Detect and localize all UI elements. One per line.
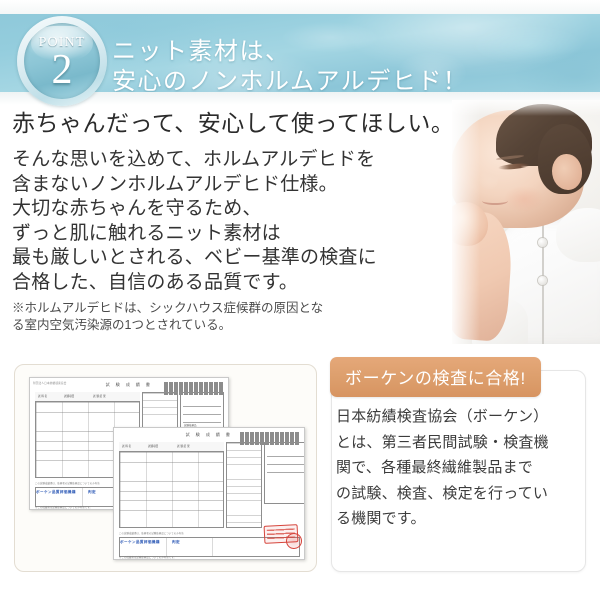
baby-cheek bbox=[504, 186, 544, 212]
certificate-blue-judgement: 判定 bbox=[88, 490, 96, 495]
description-line: 関で、各種最終繊維製品まで bbox=[336, 455, 586, 481]
header-title-line-2: 安心のノンホルムアルデヒド！ bbox=[112, 67, 468, 92]
certificate-blue-judgement: 判定 bbox=[172, 540, 180, 545]
table-header-cell: 試 験 結 果 bbox=[93, 394, 106, 398]
footnote-line: ※ホルムアルデヒドは、シックハウス症候群の原因とな bbox=[12, 300, 323, 317]
paragraph-line: 大切な赤ちゃんを守るため、 bbox=[12, 197, 377, 222]
certificate-footer-note: ※この成績書は試験依頼品についてのみ有効です。 bbox=[35, 505, 92, 509]
table-header-cell: 試 験 結 果 bbox=[177, 444, 190, 448]
onesie-button bbox=[538, 276, 547, 285]
certificate-table-header: 試 料 名 試験項目 試 験 結 果 bbox=[119, 442, 224, 452]
header-title: ニット素材は、 安心のノンホルムアルデヒド！ bbox=[112, 37, 468, 92]
baby-mouth bbox=[482, 197, 508, 205]
table-header-cell: 試 料 名 bbox=[38, 394, 47, 398]
boken-description: 日本紡績検査協会（ボーケン） とは、第三者民間試験・検査機 関で、各種最終繊維製… bbox=[336, 404, 586, 532]
point-badge: POINT 2 bbox=[17, 16, 107, 106]
header-title-line-1: ニット素材は、 bbox=[112, 37, 468, 67]
description-line: の試験、検査、検定を行ってい bbox=[336, 481, 586, 507]
paragraph-line: 含まないノンホルムアルデヒド仕様。 bbox=[12, 173, 377, 198]
body-paragraph: そんな思いを込めて、ホルムアルデヒドを 含まないノンホルムアルデヒド仕様。 大切… bbox=[12, 148, 377, 295]
boken-pass-badge: ボーケンの検査に合格! bbox=[330, 357, 541, 397]
certificate-table bbox=[119, 442, 224, 528]
certificate-top-note: この試験成績書は、依頼者の試験依頼品についてのみ有効 bbox=[119, 531, 184, 535]
certificate-blue-label: ボーケン品質評価機構 bbox=[120, 540, 160, 545]
info-rule bbox=[183, 405, 221, 407]
certificate-title: 試 験 成 績 書 bbox=[186, 432, 233, 438]
certificate-document-back: 試 験 成 績 書 試 料 名 試験項目 試 験 結 果 この試験成績書は、依頼… bbox=[113, 427, 305, 560]
info-rule bbox=[267, 455, 305, 457]
description-line: 日本紡績検査協会（ボーケン） bbox=[336, 404, 586, 430]
certificate-side-column bbox=[226, 442, 262, 528]
boken-pass-badge-label: ボーケンの検査に合格! bbox=[345, 369, 526, 388]
description-line: とは、第三者民間試験・検査機 bbox=[336, 430, 586, 456]
certificate-title: 試 験 成 績 書 bbox=[106, 382, 153, 388]
certificate-footer-note: ※この成績書は試験依頼品についてのみ有効です。 bbox=[119, 555, 176, 559]
info-rule bbox=[183, 413, 221, 415]
point-badge-number: 2 bbox=[17, 49, 107, 91]
certificate-blue-label: ボーケン品質評価機構 bbox=[36, 490, 76, 495]
description-line: る機関です。 bbox=[336, 506, 586, 532]
footnote: ※ホルムアルデヒドは、シックハウス症候群の原因とな る室内空気汚染源の1つとされ… bbox=[12, 300, 323, 334]
footnote-line: る室内空気汚染源の1つとされている。 bbox=[12, 317, 323, 334]
certificate-corner-label: 財団法人日本紡績検査協会 bbox=[33, 381, 67, 385]
photo-top-fade bbox=[452, 100, 600, 116]
certificate-panel: 財団法人日本紡績検査協会 試 験 成 績 書 試 料 名 試験項目 試 験 結 … bbox=[14, 364, 317, 572]
certificate-table-header: 試 料 名 試験項目 試 験 結 果 bbox=[35, 392, 140, 402]
photo-left-fade bbox=[452, 100, 480, 344]
table-header-cell: 試験項目 bbox=[148, 444, 158, 448]
baby-photo bbox=[452, 100, 600, 344]
onesie-button bbox=[538, 238, 547, 247]
certificate-info-box bbox=[264, 442, 305, 504]
table-header-cell: 試験項目 bbox=[64, 394, 74, 398]
paragraph-line: 合格した、自信のある品質です。 bbox=[12, 271, 377, 296]
header-top-gradient bbox=[0, 0, 600, 14]
baby-ear bbox=[552, 154, 582, 190]
info-rule bbox=[267, 471, 305, 473]
paragraph-line: ずっと肌に触れるニット素材は bbox=[12, 222, 377, 247]
paragraph-line: そんな思いを込めて、ホルムアルデヒドを bbox=[12, 148, 377, 173]
table-header-cell: 試 料 名 bbox=[122, 444, 131, 448]
paragraph-line: 最も厳しいとされる、ベビー基準の検査に bbox=[12, 246, 377, 271]
certificate-top-note: この試験成績書は、依頼者の試験依頼品についてのみ有効 bbox=[35, 481, 100, 485]
info-rule bbox=[267, 463, 305, 465]
section-heading: 赤ちゃんだって、安心して使ってほしい。 bbox=[12, 110, 454, 137]
